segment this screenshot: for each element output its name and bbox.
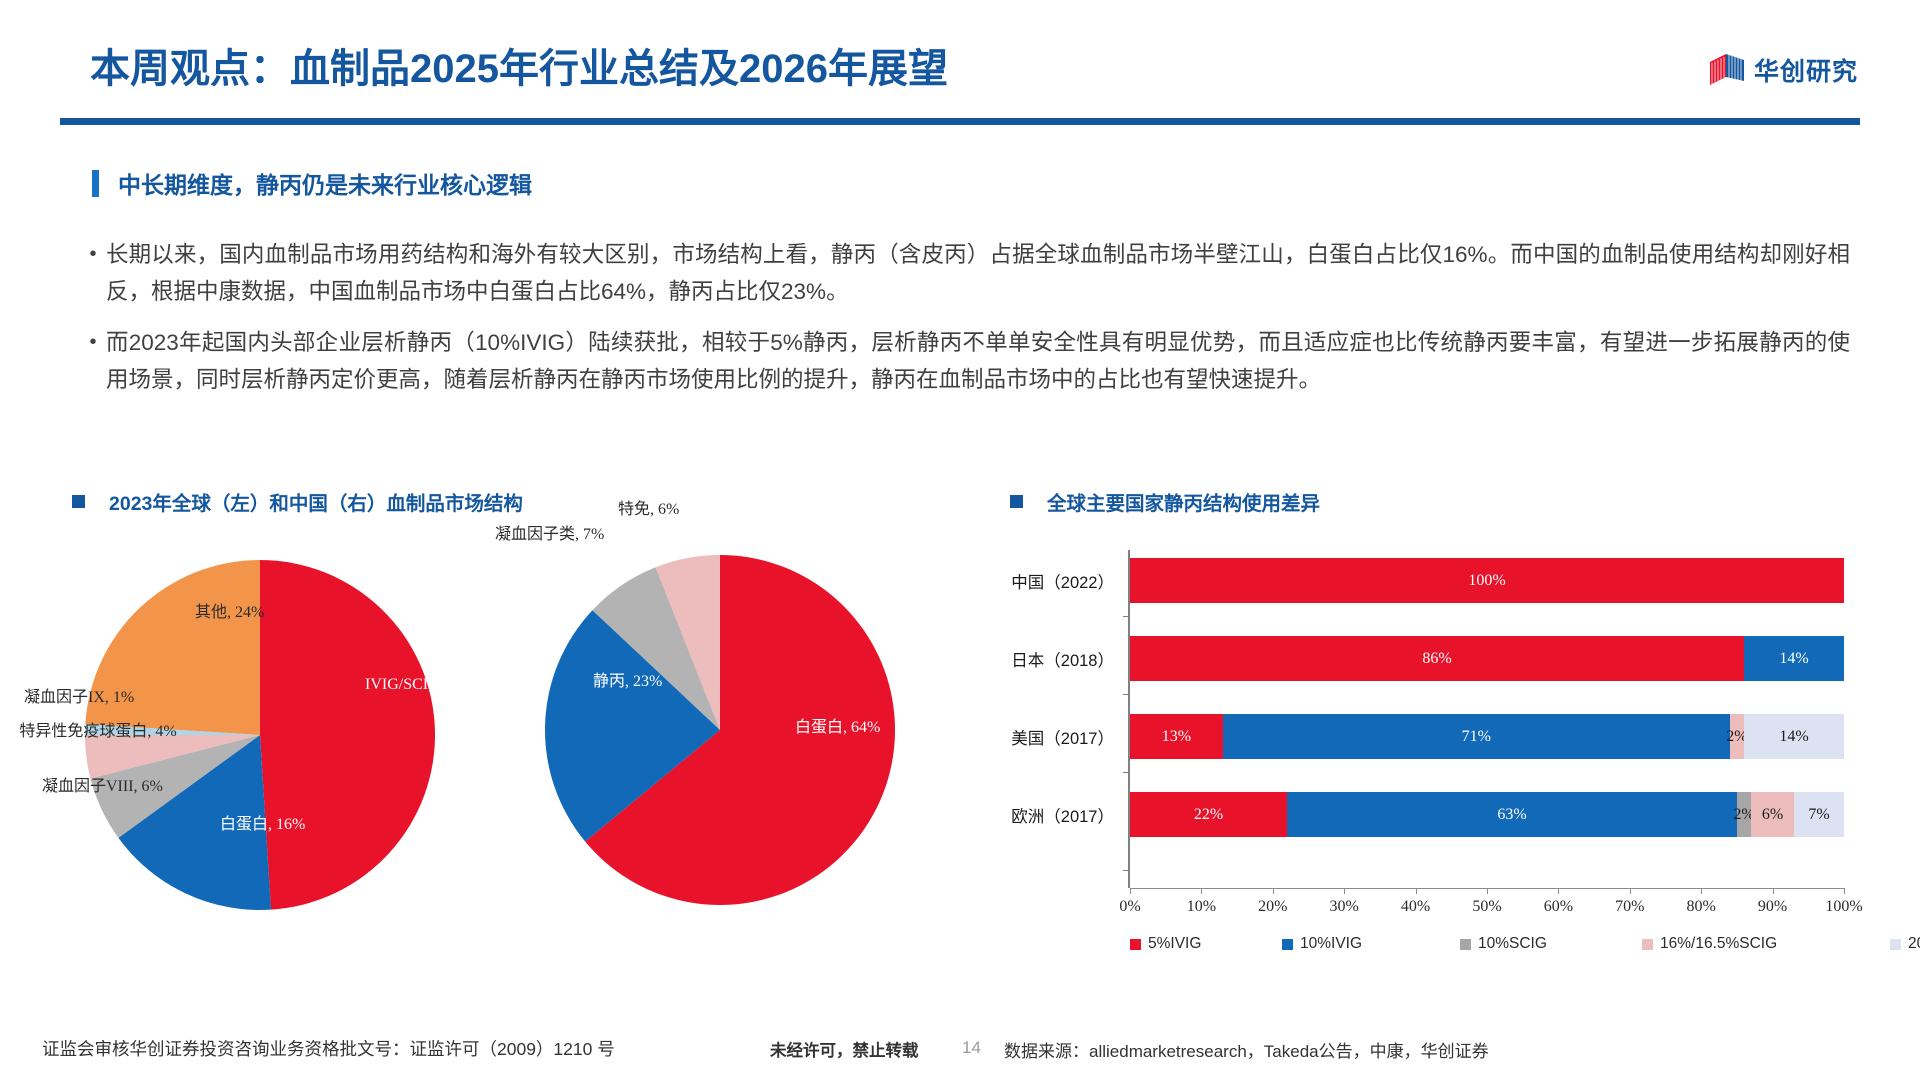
bar-segment: 86%	[1130, 636, 1744, 681]
legend-label: 10%IVIG	[1300, 935, 1362, 953]
chart-title-pies-label: 2023年全球（左）和中国（右）血制品市场结构	[109, 487, 523, 516]
bullet-item: • 而2023年起国内头部企业层析静丙（10%IVIG）陆续获批，相较于5%静丙…	[80, 324, 1850, 398]
bar-segment: 71%	[1223, 714, 1730, 759]
pie-label-factor-ix: 凝血因子IX, 1%	[24, 688, 134, 708]
page-title: 本周观点：血制品2025年行业总结及2026年展望	[90, 36, 948, 94]
legend-swatch-icon	[1130, 939, 1141, 950]
bullet-text: 长期以来，国内血制品市场用药结构和海外有较大区别，市场结构上看，静丙（含皮丙）占…	[106, 236, 1850, 310]
chart-title-bars-label: 全球主要国家静丙结构使用差异	[1047, 487, 1320, 516]
legend-item[interactable]: 10%IVIG	[1282, 935, 1362, 953]
legend-item[interactable]: 5%IVIG	[1130, 935, 1201, 953]
legend-item[interactable]: 20%SCIG	[1890, 935, 1920, 953]
x-axis-tick-label: 100%	[1825, 898, 1862, 916]
bar-segment: 100%	[1130, 558, 1844, 603]
bar-chart-x-axis	[1130, 888, 1844, 889]
pie-label-cn-specific: 特免, 6%	[618, 500, 679, 520]
pie-label-cn-clotting: 凝血因子类, 7%	[495, 525, 604, 545]
slide-footer: 证监会审核华创证券投资咨询业务资格批文号：证监许可（2009）1210 号 未经…	[0, 1028, 1920, 1080]
square-bullet-icon	[72, 495, 85, 508]
x-axis-tick-label: 30%	[1330, 898, 1359, 916]
x-axis-tick-label: 90%	[1758, 898, 1787, 916]
cube-logo-icon	[1709, 53, 1745, 87]
legend-label: 10%SCIG	[1478, 935, 1547, 953]
bar-chart-row: 日本（2018）86%14%	[1130, 636, 1844, 681]
chart-title-bars: 全球主要国家静丙结构使用差异	[1010, 487, 1320, 516]
legend-label: 20%SCIG	[1908, 935, 1920, 953]
bar-segment-value: 71%	[1462, 728, 1491, 746]
x-axis-tick-label: 80%	[1687, 898, 1716, 916]
bar-chart-rows: 中国（2022）100%日本（2018）86%14%美国（2017）13%71%…	[1130, 550, 1844, 888]
legend-item[interactable]: 16%/16.5%SCIG	[1642, 935, 1777, 953]
bar-segment: 22%	[1130, 792, 1287, 837]
section-heading-label: 中长期维度，静丙仍是未来行业核心逻辑	[118, 166, 532, 200]
pie-slice	[260, 560, 435, 910]
bar-segment: 63%	[1287, 792, 1737, 837]
bar-segment: 2%	[1730, 714, 1744, 759]
section-accent-bar	[92, 170, 99, 197]
bar-segment: 13%	[1130, 714, 1223, 759]
body-bullets: • 长期以来，国内血制品市场用药结构和海外有较大区别，市场结构上看，静丙（含皮丙…	[80, 236, 1850, 412]
bar-category-label: 中国（2022）	[1011, 569, 1114, 593]
bullet-marker-icon: •	[80, 324, 106, 398]
brand-name: 华创研究	[1754, 52, 1858, 88]
bar-chart-row: 欧洲（2017）22%63%2%6%7%	[1130, 792, 1844, 837]
y-axis-tick	[1123, 694, 1130, 695]
legend-label: 16%/16.5%SCIG	[1660, 935, 1777, 953]
legend-swatch-icon	[1282, 939, 1293, 950]
bar-segment-value: 86%	[1422, 650, 1451, 668]
pie-label-others: 其他, 24%	[195, 603, 264, 623]
y-axis-tick	[1123, 616, 1130, 617]
bar-segment: 14%	[1744, 636, 1844, 681]
bullet-marker-icon: •	[80, 236, 106, 310]
bar-segment-value: 14%	[1779, 650, 1808, 668]
bar-segment: 2%	[1737, 792, 1751, 837]
bar-category-label: 欧洲（2017）	[1011, 803, 1114, 827]
bar-chart-row: 中国（2022）100%	[1130, 558, 1844, 603]
x-axis-tick-label: 60%	[1544, 898, 1573, 916]
pie-label-ivig-scig: IVIG/SCIG, 49%	[365, 675, 477, 695]
pie-slice	[85, 560, 260, 735]
legend-label: 5%IVIG	[1148, 935, 1201, 953]
bar-segment-value: 63%	[1497, 806, 1526, 824]
page-number: 14	[962, 1038, 981, 1058]
section-heading: 中长期维度，静丙仍是未来行业核心逻辑	[92, 166, 532, 200]
x-axis-tick-label: 10%	[1187, 898, 1216, 916]
pie-label-cn-ivig: 静丙, 23%	[593, 672, 662, 692]
bar-segment-value: 13%	[1162, 728, 1191, 746]
bar-segment-value: 22%	[1194, 806, 1223, 824]
chart-title-pies: 2023年全球（左）和中国（右）血制品市场结构	[72, 487, 523, 516]
stacked-bar-chart: 中国（2022）100%日本（2018）86%14%美国（2017）13%71%…	[1000, 540, 1870, 960]
pie-charts-area: IVIG/SCIG, 49% 白蛋白, 16% 凝血因子VIII, 6% 特异性…	[0, 530, 960, 950]
bar-chart-row: 美国（2017）13%71%2%14%	[1130, 714, 1844, 759]
bar-chart-x-axis-ticks: 0%10%20%30%40%50%60%70%80%90%100%	[1130, 888, 1844, 918]
legend-swatch-icon	[1890, 939, 1901, 950]
x-axis-tick-label: 50%	[1472, 898, 1501, 916]
bar-segment-value: 6%	[1762, 806, 1783, 824]
footer-source-text: 数据来源：alliedmarketresearch，Takeda公告，中康，华创…	[1004, 1037, 1489, 1062]
y-axis-tick	[1123, 870, 1130, 871]
legend-swatch-icon	[1460, 939, 1471, 950]
square-bullet-icon	[1010, 495, 1023, 508]
x-axis-tick-label: 40%	[1401, 898, 1430, 916]
slide-header: 本周观点：血制品2025年行业总结及2026年展望 华创研究	[0, 0, 1920, 120]
bullet-text: 而2023年起国内头部企业层析静丙（10%IVIG）陆续获批，相较于5%静丙，层…	[106, 324, 1850, 398]
x-axis-tick-label: 70%	[1615, 898, 1644, 916]
bar-category-label: 日本（2018）	[1011, 647, 1114, 671]
bar-segment-value: 100%	[1468, 572, 1505, 590]
x-axis-tick-label: 20%	[1258, 898, 1287, 916]
bullet-item: • 长期以来，国内血制品市场用药结构和海外有较大区别，市场结构上看，静丙（含皮丙…	[80, 236, 1850, 310]
brand-logo: 华创研究	[1709, 52, 1858, 88]
slide: 本周观点：血制品2025年行业总结及2026年展望 华创研究	[0, 0, 1920, 1080]
bar-chart-legend: 5%IVIG10%IVIG10%SCIG16%/16.5%SCIG20%SCIG	[1130, 935, 1870, 959]
bar-segment-value: 7%	[1808, 806, 1829, 824]
x-axis-tick-label: 0%	[1119, 898, 1140, 916]
bar-segment: 6%	[1751, 792, 1794, 837]
footer-copyright-text: 未经许可，禁止转载	[770, 1037, 919, 1061]
y-axis-tick	[1123, 772, 1130, 773]
legend-swatch-icon	[1642, 939, 1653, 950]
header-divider	[60, 118, 1860, 125]
bar-segment: 7%	[1794, 792, 1844, 837]
pie-label-factor-viii: 凝血因子VIII, 6%	[42, 777, 163, 797]
x-axis-tick	[1844, 888, 1845, 894]
bar-segment-value: 14%	[1779, 728, 1808, 746]
bar-category-label: 美国（2017）	[1011, 725, 1114, 749]
legend-item[interactable]: 10%SCIG	[1460, 935, 1547, 953]
pie-label-albumin: 白蛋白, 16%	[220, 815, 305, 835]
bar-segment: 14%	[1744, 714, 1844, 759]
pie-label-specific-ig: 特异性免疫球蛋白, 4%	[8, 722, 188, 742]
pie-label-cn-albumin: 白蛋白, 64%	[795, 718, 880, 738]
footer-license-text: 证监会审核华创证券投资咨询业务资格批文号：证监许可（2009）1210 号	[42, 1036, 615, 1061]
